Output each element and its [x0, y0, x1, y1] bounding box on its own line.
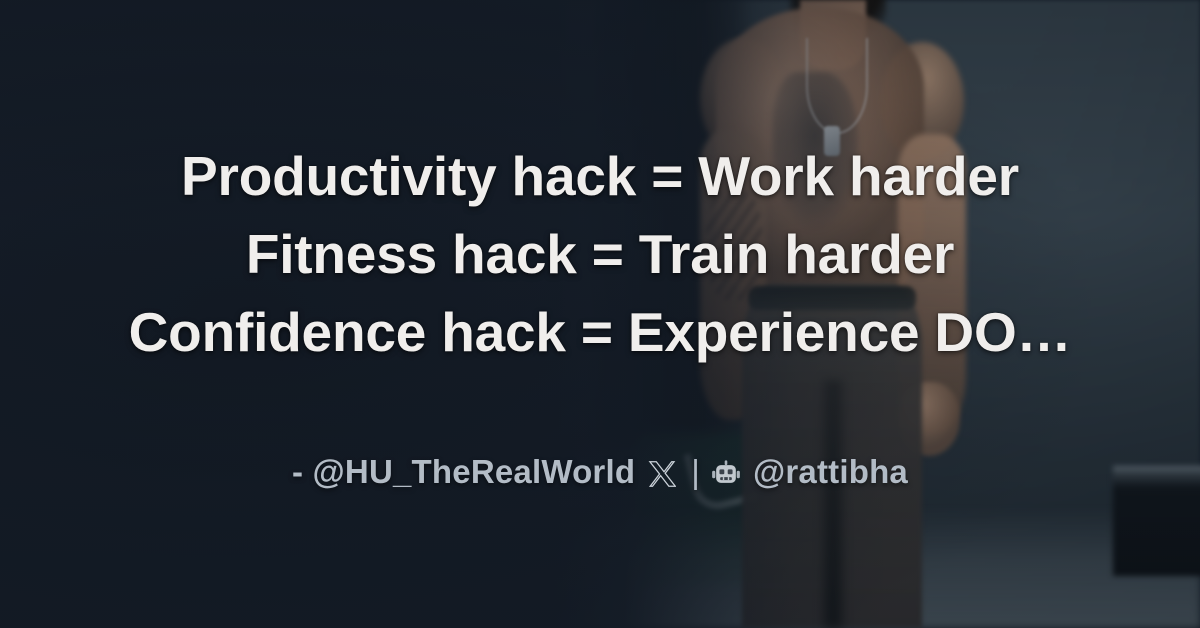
- robot-face-icon: [711, 459, 741, 489]
- social-share-card: Productivity hack = Work harder Fitness …: [0, 0, 1200, 628]
- x-logo-icon: [648, 460, 676, 488]
- attribution: - @HU_TheRealWorld |: [64, 453, 1136, 491]
- quote-line-3: Confidence hack = Experience DO…: [64, 293, 1136, 371]
- author-handle: - @HU_TheRealWorld: [292, 453, 635, 491]
- quote-line-2: Fitness hack = Train harder: [64, 215, 1136, 293]
- card-content: Productivity hack = Work harder Fitness …: [0, 0, 1200, 628]
- quote-text: Productivity hack = Work harder Fitness …: [64, 137, 1136, 371]
- quote-line-1: Productivity hack = Work harder: [64, 137, 1136, 215]
- source-handle: @rattibha: [753, 453, 908, 491]
- separator-bar: |: [691, 453, 700, 491]
